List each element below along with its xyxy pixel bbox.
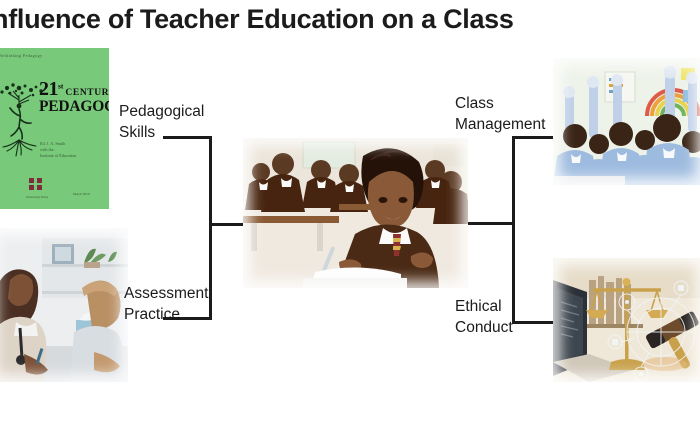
connector-left-spine: [209, 136, 212, 320]
book-top-note: Rethinking Pedagogy: [0, 53, 42, 58]
book-publisher: University Press: [19, 195, 55, 199]
page-title: nfluence of Teacher Education on a Class: [0, 4, 512, 35]
book-number: 21: [39, 78, 58, 100]
publisher-seal-icon: [29, 178, 42, 190]
connector-center-to-right: [468, 222, 515, 225]
connector-right-bottom-arm: [512, 321, 554, 324]
connector-right-top-arm: [512, 136, 554, 139]
counselling-scene-art: [0, 228, 128, 382]
book-subject-word: PEDAGOGY: [39, 98, 105, 116]
book-sub-line-3: Institute of Education: [40, 153, 76, 159]
label-class-management: Class Management: [455, 93, 545, 135]
label-ethical-conduct: Ethical Conduct: [455, 296, 513, 338]
classroom-photo: [243, 138, 468, 288]
book-cover-image: Rethinking Pedagogy 21stCENTURY: [0, 48, 109, 209]
label-assessment-practice: Assessment Practice: [124, 283, 208, 325]
slide-canvas: nfluence of Teacher Education on a Class…: [0, 0, 700, 430]
book-ordinal: st: [58, 82, 63, 91]
book-title-block: 21stCENTURY PEDAGOGY: [39, 78, 105, 116]
ethics-scene-art: [553, 258, 700, 382]
pupils-raising-hands-image: [553, 58, 700, 185]
connector-left-to-center: [209, 223, 245, 226]
book-date: March 2019: [73, 192, 89, 196]
classroom-scene-art: [243, 138, 468, 288]
book-subtitle-block: Ed. J. A. Smith with the Institute of Ed…: [40, 141, 76, 159]
counselling-session-image: [0, 228, 128, 382]
hands-up-scene-art: [553, 58, 700, 185]
scales-of-justice-gavel-image: [553, 258, 700, 382]
label-pedagogical-skills: Pedagogical Skills: [119, 101, 204, 143]
book-century-word: CENTURY: [65, 88, 109, 98]
